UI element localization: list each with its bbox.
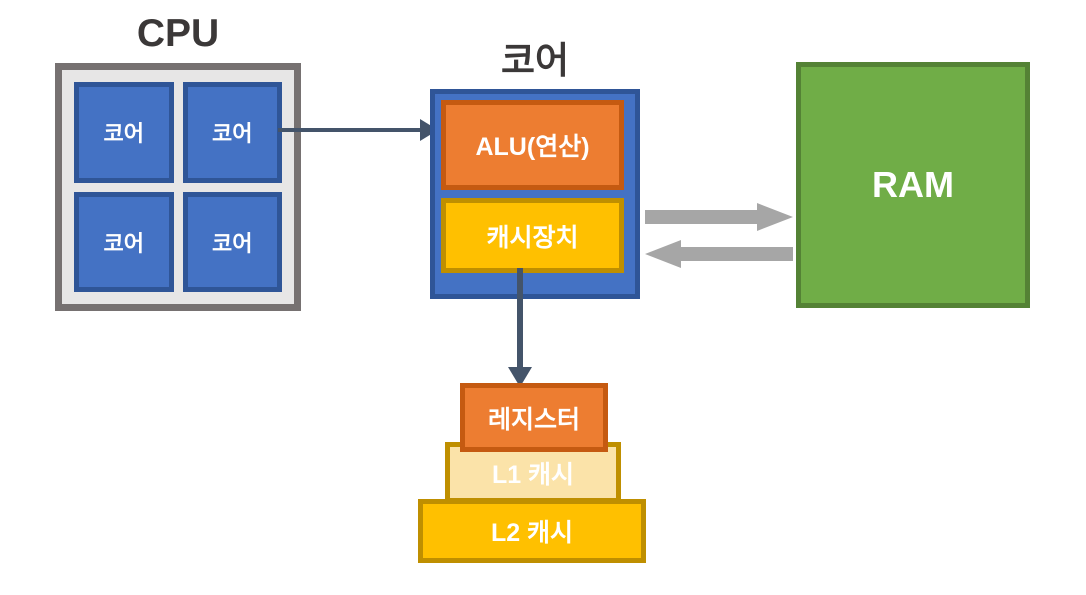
cache-unit-label: 캐시장치	[486, 218, 578, 254]
cache-to-register-arrow-icon	[500, 268, 540, 388]
alu-unit[interactable]: ALU(연산)	[441, 100, 624, 190]
cpu-core-1[interactable]: 코어	[74, 82, 174, 183]
cpu-core-3[interactable]: 코어	[74, 192, 174, 293]
register-block[interactable]: 레지스터	[460, 383, 608, 452]
cpu-core-2-label: 코어	[212, 116, 252, 148]
register-label: 레지스터	[488, 400, 580, 436]
alu-unit-label: ALU(연산)	[475, 127, 589, 163]
cpu-core-4[interactable]: 코어	[183, 192, 283, 293]
cpu-core-2[interactable]: 코어	[183, 82, 283, 183]
l1-cache-label: L1 캐시	[492, 455, 574, 491]
core-detail-title: 코어	[430, 42, 640, 79]
l2-cache-label: L2 캐시	[491, 513, 573, 549]
cpu-to-core-arrow-icon	[278, 110, 438, 150]
cpu-title: CPU	[55, 14, 301, 53]
cpu-core-grid: 코어 코어 코어 코어	[74, 82, 282, 292]
diagram-canvas: CPU 코어 코어 코어 코어 코어 ALU(연산) 캐시장치	[0, 0, 1086, 595]
cpu-core-4-label: 코어	[212, 226, 252, 258]
cpu-package: 코어 코어 코어 코어	[55, 63, 301, 311]
cpu-core-3-label: 코어	[104, 226, 144, 258]
ram-label: RAM	[872, 164, 954, 206]
ram-block[interactable]: RAM	[796, 62, 1030, 308]
l2-cache-block[interactable]: L2 캐시	[418, 499, 646, 563]
core-to-ram-arrow-icon	[645, 203, 793, 231]
cache-unit[interactable]: 캐시장치	[441, 198, 624, 273]
cpu-core-1-label: 코어	[104, 116, 144, 148]
ram-to-core-arrow-icon	[645, 240, 793, 268]
